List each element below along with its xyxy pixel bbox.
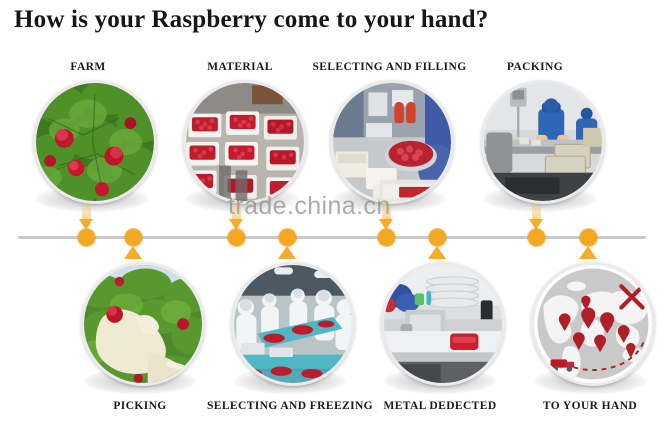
arrow-up-icon-to-your-hand <box>579 246 597 259</box>
top-photo-packing[interactable] <box>481 80 605 204</box>
top-step-label-packing: PACKING <box>470 61 600 73</box>
top-photo-farm[interactable] <box>33 80 157 204</box>
metal-detector-photo <box>384 265 502 383</box>
bottom-photo-selecting-freezing[interactable] <box>231 262 355 386</box>
bottom-step-label-picking: PICKING <box>80 400 200 412</box>
top-step-label-farm: FARM <box>28 61 148 73</box>
bottom-photo-picking[interactable] <box>81 262 205 386</box>
top-step-label-material: MATERIAL <box>180 61 300 73</box>
arrow-tail <box>382 199 391 221</box>
timeline-dot-material[interactable] <box>228 229 245 246</box>
arrow-up-icon-metal-dedected <box>428 246 446 259</box>
arrow-up-icon-picking <box>124 246 142 259</box>
bottom-step-label-selecting-freezing: SELECTING AND FREEZING <box>207 400 373 412</box>
timeline-dot-to-your-hand[interactable] <box>580 229 597 246</box>
bottom-step-label-metal-dedected: METAL DEDECTED <box>378 400 502 412</box>
page-title: How is your Raspberry come to your hand? <box>14 6 654 34</box>
sorting-line-photo <box>234 265 352 383</box>
bottom-step-label-to-your-hand: TO YOUR HAND <box>528 400 652 412</box>
packing-conveyor-photo <box>484 83 602 201</box>
infographic-canvas: How is your Raspberry come to your hand?… <box>0 0 663 429</box>
world-map-globe-photo <box>534 265 652 383</box>
timeline-dot-picking[interactable] <box>125 229 142 246</box>
bottom-photo-metal-dedected[interactable] <box>381 262 505 386</box>
timeline-dot-metal-dedected[interactable] <box>429 229 446 246</box>
timeline-dot-selecting-freezing[interactable] <box>279 229 296 246</box>
timeline-bar <box>18 236 646 239</box>
arrow-tail <box>232 199 241 221</box>
top-photo-material[interactable] <box>183 80 307 204</box>
bottom-photo-to-your-hand[interactable] <box>531 262 655 386</box>
factory-filling-photo <box>333 83 451 201</box>
hand-picking-berry-photo <box>84 265 202 383</box>
timeline-dot-packing[interactable] <box>528 229 545 246</box>
top-photo-selecting-filling[interactable] <box>330 80 454 204</box>
arrow-tail <box>532 199 541 221</box>
timeline-dot-selecting-filling[interactable] <box>378 229 395 246</box>
arrow-tail <box>82 199 91 221</box>
arrow-up-icon-selecting-freezing <box>278 246 296 259</box>
raspberry-crates-photo <box>186 83 304 201</box>
top-step-label-selecting-filling: SELECTING AND FILLING <box>312 61 467 73</box>
timeline-dot-farm[interactable] <box>78 229 95 246</box>
raspberry-field-photo <box>36 83 154 201</box>
